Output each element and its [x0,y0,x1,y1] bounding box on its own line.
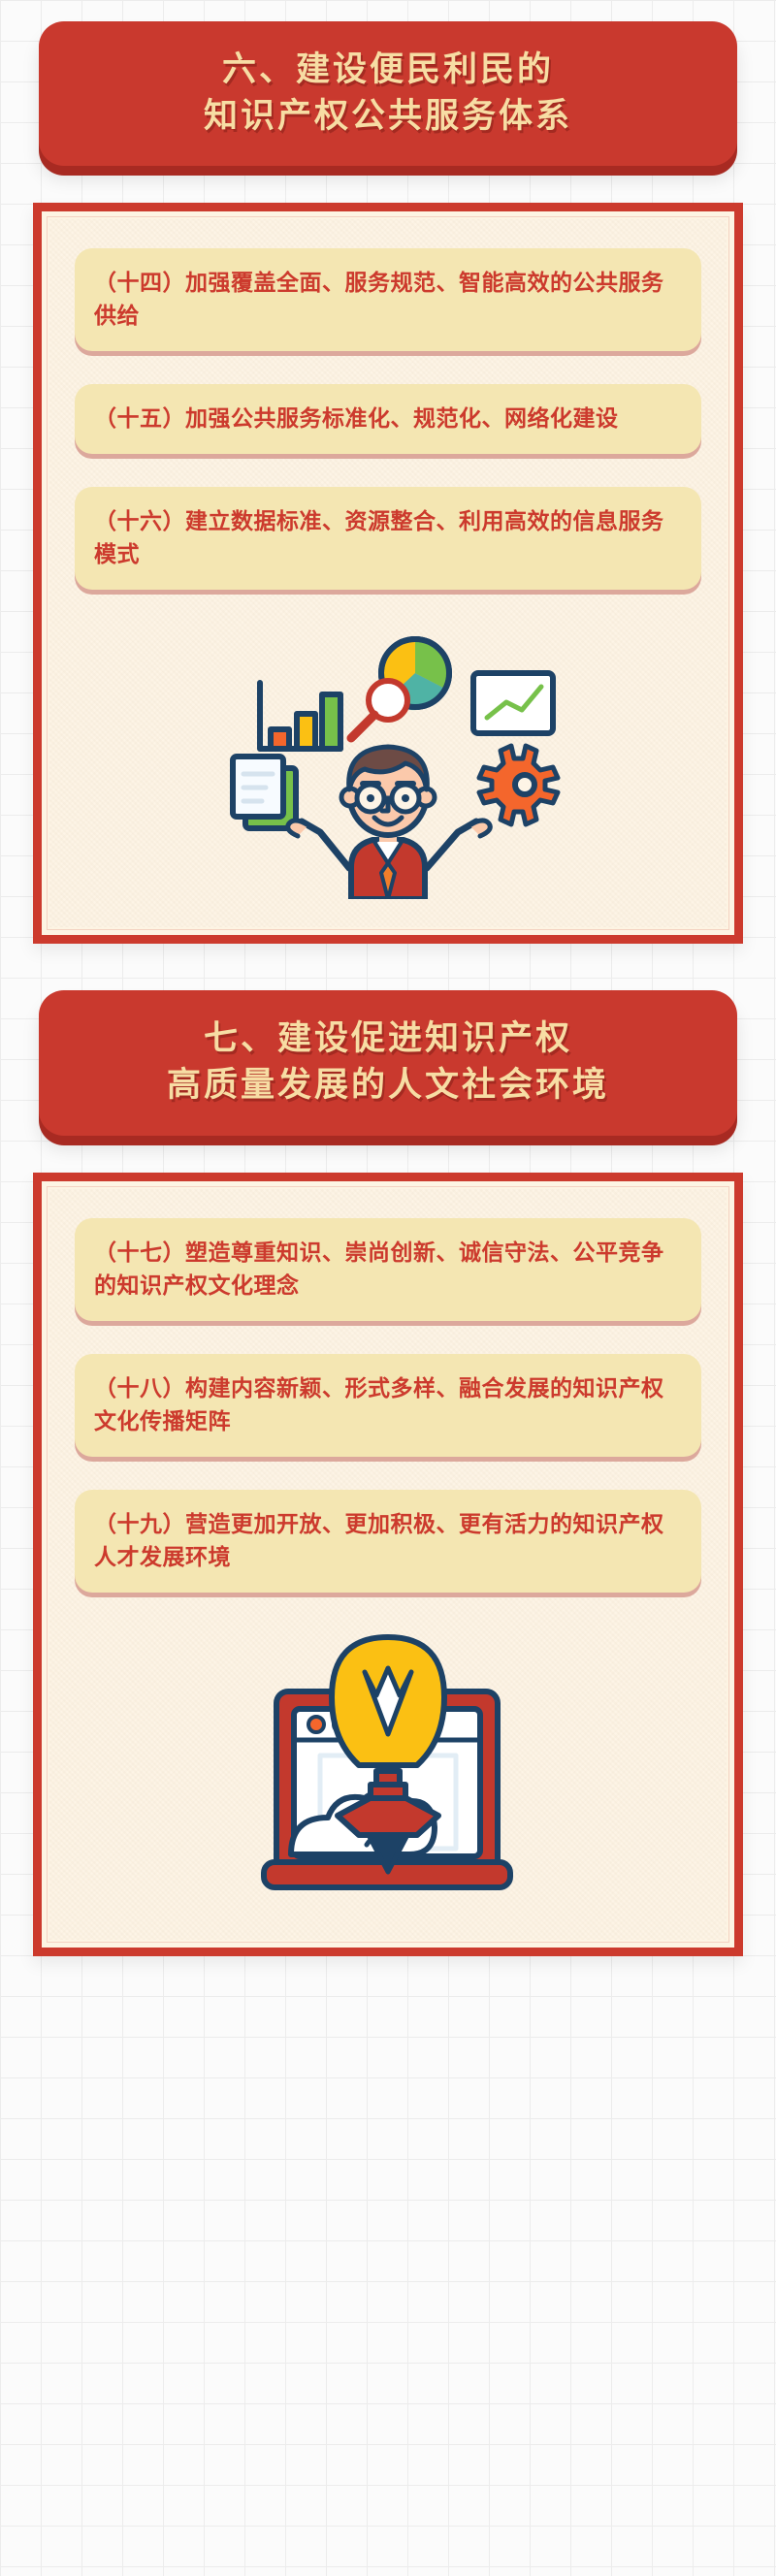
section-divider-spacer [0,944,776,969]
item-fifteen[interactable]: （十五）加强公共服务标准化、规范化、网络化建设 [75,384,701,454]
item-nineteen-text: （十九）营造更加开放、更加积极、更有活力的知识产权人才发展环境 [94,1507,682,1573]
gear-icon [479,746,558,824]
item-nineteen[interactable]: （十九）营造更加开放、更加积极、更有活力的知识产权人才发展环境 [75,1490,701,1593]
item-seventeen-text: （十七）塑造尊重知识、崇尚创新、诚信守法、公平竞争的知识产权文化理念 [94,1236,682,1302]
section-seven-banner-line2: 高质量发展的人文社会环境 [62,1062,714,1109]
item-sixteen-text: （十六）建立数据标准、资源整合、利用高效的信息服务模式 [94,504,682,570]
lightbulb-laptop-illustration [75,1626,701,1916]
section-seven-banner-line1: 七、建设促进知识产权 [62,1015,714,1062]
item-seventeen-number: （十七） [94,1240,185,1265]
section-six-banner: 六、建设便民利民的 知识产权公共服务体系 [39,21,737,166]
item-fourteen-text: （十四）加强覆盖全面、服务规范、智能高效的公共服务供给 [94,266,682,332]
item-seventeen[interactable]: （十七）塑造尊重知识、崇尚创新、诚信守法、公平竞争的知识产权文化理念 [75,1218,701,1321]
item-eighteen-number: （十八） [94,1375,185,1401]
item-nineteen-number: （十九） [94,1511,185,1536]
item-eighteen[interactable]: （十八）构建内容新颖、形式多样、融合发展的知识产权文化传播矩阵 [75,1354,701,1457]
item-eighteen-text: （十八）构建内容新颖、形式多样、融合发展的知识产权文化传播矩阵 [94,1371,682,1437]
section-six-card-inner: （十四）加强覆盖全面、服务规范、智能高效的公共服务供给 （十五）加强公共服务标准… [48,217,728,929]
section-six-banner-line2: 知识产权公共服务体系 [62,93,714,140]
item-fifteen-text: （十五）加强公共服务标准化、规范化、网络化建设 [94,402,682,435]
item-fifteen-body: 加强公共服务标准化、规范化、网络化建设 [185,405,619,431]
item-fourteen[interactable]: （十四）加强覆盖全面、服务规范、智能高效的公共服务供给 [75,248,701,351]
item-fourteen-number: （十四） [94,270,185,295]
magnifier-pie-chart-icon [351,639,449,738]
lightbulb-icon [332,1637,444,1765]
item-sixteen-number: （十六） [94,508,185,533]
document-icon [233,757,296,828]
section-six-banner-wrap: 六、建设便民利民的 知识产权公共服务体系 [0,0,776,195]
section-seven-banner-wrap: 七、建设促进知识产权 高质量发展的人文社会环境 [0,969,776,1164]
bar-chart-icon [260,683,340,749]
infographic-page: 六、建设便民利民的 知识产权公共服务体系 （十四）加强覆盖全面、服务规范、智能高… [0,0,776,1985]
item-fifteen-number: （十五） [94,405,185,431]
section-six-banner-line1: 六、建设便民利民的 [62,47,714,93]
item-sixteen[interactable]: （十六）建立数据标准、资源整合、利用高效的信息服务模式 [75,487,701,590]
person-with-glasses [288,747,491,899]
section-seven-banner: 七、建设促进知识产权 高质量发展的人文社会环境 [39,990,737,1135]
window-dot-red [308,1717,324,1732]
section-seven-card-inner: （十七）塑造尊重知识、崇尚创新、诚信守法、公平竞争的知识产权文化理念 （十八）构… [48,1187,728,1942]
public-service-person-illustration [75,623,701,904]
line-chart-icon [473,673,553,733]
section-seven-card: （十七）塑造尊重知识、崇尚创新、诚信守法、公平竞争的知识产权文化理念 （十八）构… [33,1173,743,1956]
section-six-card: （十四）加强覆盖全面、服务规范、智能高效的公共服务供给 （十五）加强公共服务标准… [33,203,743,944]
